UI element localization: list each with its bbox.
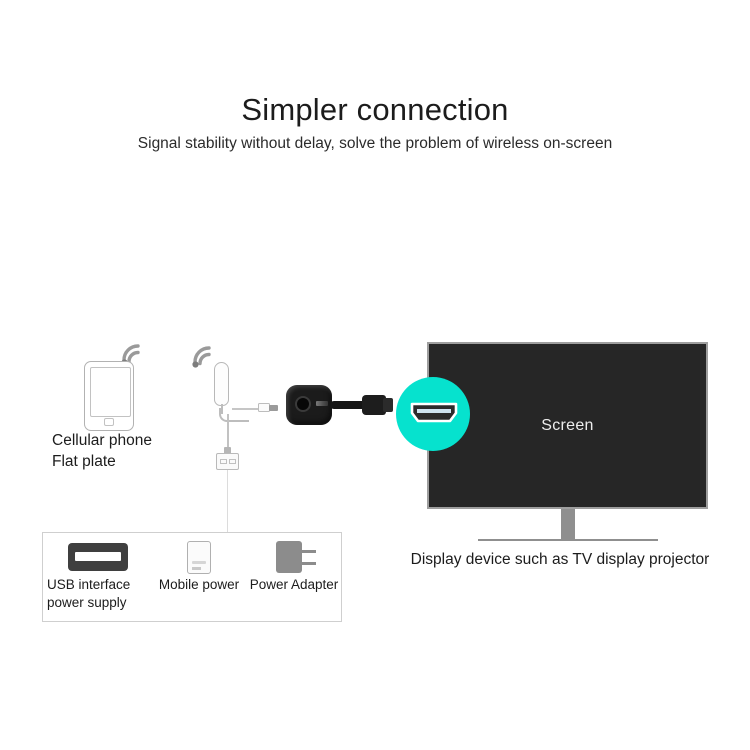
usb-plug-pin bbox=[229, 459, 236, 464]
dongle-logo bbox=[316, 401, 328, 406]
page-subtitle: Signal stability without delay, solve th… bbox=[0, 134, 750, 154]
mobile-device-screen bbox=[90, 367, 131, 417]
legend-label: Mobile power bbox=[153, 576, 245, 594]
power-adapter-prong bbox=[302, 550, 316, 553]
tv-stand-neck bbox=[561, 509, 575, 540]
hdmi-plug-tip bbox=[383, 398, 393, 412]
mobile-device-home-button bbox=[104, 418, 114, 426]
legend-item-power-adapter: Power Adapter bbox=[245, 533, 343, 623]
tv-caption: Display device such as TV display projec… bbox=[380, 551, 740, 569]
power-adapter-icon bbox=[245, 541, 343, 577]
legend-item-usb-interface: USB interface power supply bbox=[43, 533, 153, 623]
power-bank-icon bbox=[153, 541, 245, 577]
antenna-icon bbox=[214, 362, 229, 406]
legend-label: USB interface power supply bbox=[43, 576, 153, 612]
tv-display bbox=[427, 342, 708, 509]
page-title: Simpler connection bbox=[0, 92, 750, 128]
usb-port-icon bbox=[43, 541, 153, 577]
usb-plug-guideline bbox=[227, 470, 229, 532]
mobile-device-icon bbox=[84, 361, 134, 431]
cable-horizontal-run bbox=[232, 408, 260, 410]
cable-elbow bbox=[219, 408, 249, 422]
power-bank-indicator bbox=[192, 561, 206, 564]
usb-port-inner-bar bbox=[75, 552, 121, 561]
diagram-canvas: Simpler connection Signal stability with… bbox=[0, 0, 750, 750]
power-source-legend: USB interface power supply Mobile power … bbox=[42, 532, 342, 622]
hdmi-connector-icon bbox=[410, 401, 458, 424]
tv-stand-base bbox=[478, 539, 658, 541]
power-adapter-prong bbox=[302, 562, 316, 565]
power-cable bbox=[227, 414, 229, 448]
usb-plug-pin bbox=[220, 459, 227, 464]
legend-item-mobile-power: Mobile power bbox=[153, 533, 245, 623]
micro-usb-connector-tip bbox=[269, 405, 278, 411]
power-bank-dots bbox=[192, 567, 201, 570]
dongle-port-icon bbox=[295, 396, 311, 412]
legend-label: Power Adapter bbox=[245, 576, 343, 594]
